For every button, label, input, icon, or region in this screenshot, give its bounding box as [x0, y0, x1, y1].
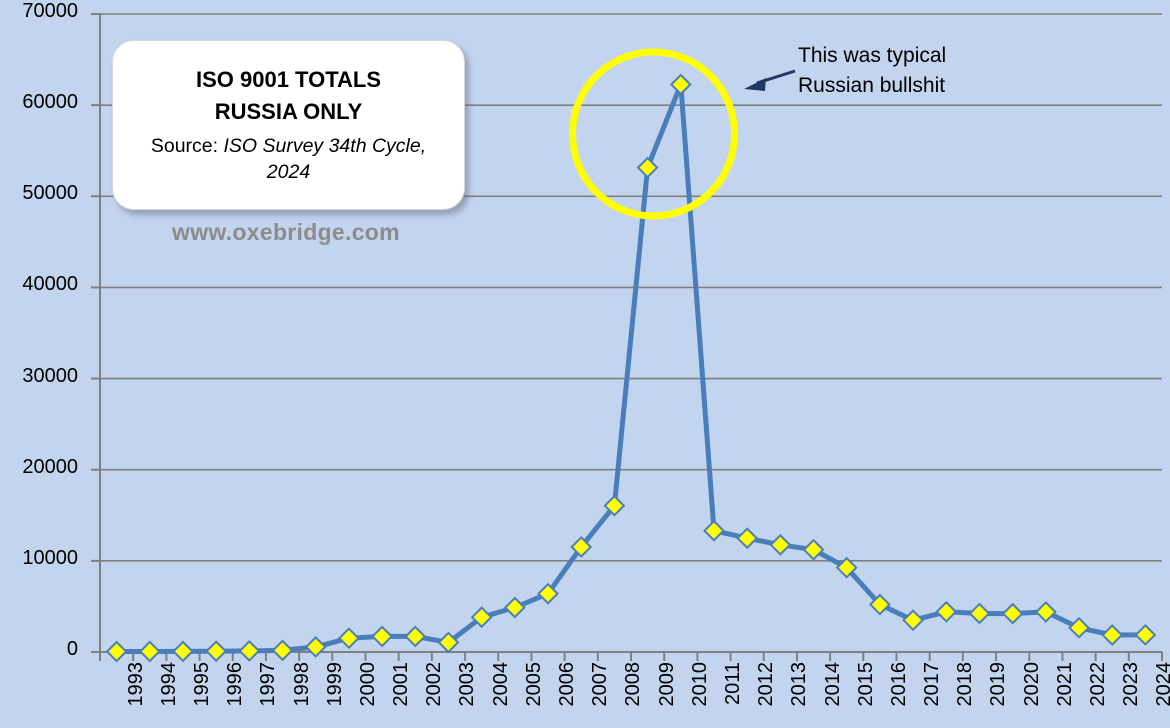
source-citation: ISO Survey 34th Cycle, 2024	[223, 135, 426, 183]
annotation-arrow-icon	[744, 71, 795, 91]
data-point-marker	[107, 642, 126, 661]
chart-container: 010000200003000040000500006000070000 199…	[0, 0, 1170, 728]
data-point-marker	[704, 521, 723, 540]
source-prefix: Source:	[151, 135, 224, 157]
data-point-marker	[804, 540, 823, 559]
chart-title-line1: ISO 9001 TOTALS	[196, 64, 381, 96]
x-axis-ticks	[100, 652, 1162, 661]
data-point-marker	[1036, 602, 1055, 621]
data-point-marker	[406, 627, 425, 646]
data-point-marker	[339, 629, 358, 648]
data-point-marker	[738, 529, 757, 548]
data-point-marker	[937, 602, 956, 621]
data-point-marker	[173, 642, 192, 661]
annotation-text: This was typical Russian bullshit	[798, 41, 946, 101]
data-point-marker	[771, 535, 790, 554]
data-point-marker	[373, 627, 392, 646]
annotation-line2: Russian bullshit	[798, 71, 946, 101]
chart-source-text: Source: ISO Survey 34th Cycle, 2024	[135, 133, 442, 186]
data-point-marker	[207, 642, 226, 661]
data-point-marker	[306, 637, 325, 656]
data-point-marker	[1003, 604, 1022, 623]
data-point-marker	[1103, 626, 1122, 645]
data-point-marker	[904, 611, 923, 630]
data-point-marker	[273, 641, 292, 660]
data-point-marker	[140, 642, 159, 661]
chart-title-box: ISO 9001 TOTALS RUSSIA ONLY Source: ISO …	[112, 40, 465, 210]
chart-title-line2: RUSSIA ONLY	[215, 96, 363, 128]
data-point-marker	[1136, 625, 1155, 644]
data-point-marker	[240, 641, 259, 660]
data-point-marker	[1070, 618, 1089, 637]
highlight-circle-icon	[573, 52, 735, 216]
data-point-marker	[638, 158, 657, 177]
data-point-marker	[970, 604, 989, 623]
data-point-marker	[671, 75, 690, 94]
watermark-text: www.oxebridge.com	[172, 219, 400, 246]
y-axis-ticks	[91, 14, 100, 652]
annotation-line1: This was typical	[798, 41, 946, 71]
data-point-marker	[505, 598, 524, 617]
